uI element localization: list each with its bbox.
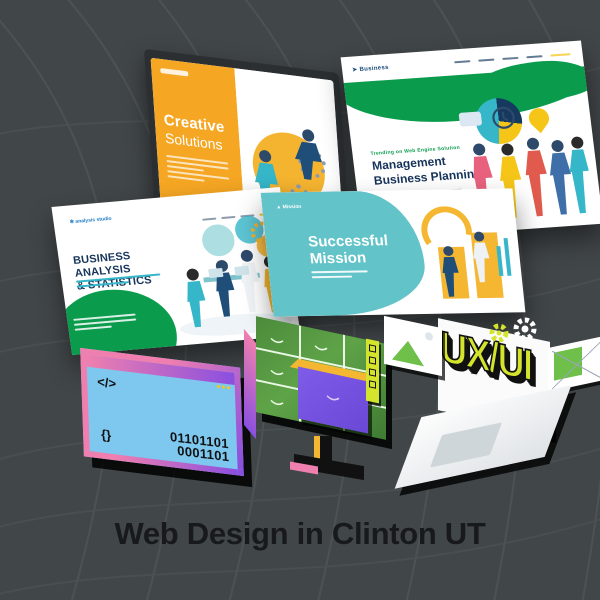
iso-code-window[interactable]: </> {} 01101101 0001101 <box>82 358 252 476</box>
card-bas-blob-text <box>73 313 137 333</box>
drawer-handle-icon <box>270 337 284 346</box>
curly-brace-icon: {} <box>101 426 112 442</box>
creative-brand-logo <box>160 68 188 77</box>
gear-icon <box>508 312 542 346</box>
card-bas-navbar <box>196 202 272 211</box>
toolbar-panel[interactable] <box>366 339 379 404</box>
card-bas-green-blob <box>51 285 183 355</box>
card-sm-climbers-illustration <box>413 200 524 301</box>
iso-drawer-cabinet[interactable] <box>246 318 406 483</box>
drawer-handle-icon <box>326 395 340 404</box>
code-window-frame: </> {} 01101101 0001101 <box>80 348 244 476</box>
drawer-handle-icon <box>270 369 284 378</box>
iso-laptop-uxui[interactable]: UX/UI <box>390 312 600 492</box>
sun-icon <box>425 332 433 342</box>
card-bas-logo: ❇ analysis studio <box>69 216 112 226</box>
wireframe-lines <box>552 340 600 389</box>
illustration-person <box>288 125 332 183</box>
cabinet-side-panel <box>244 329 256 439</box>
shape-tool-icon[interactable] <box>369 356 376 364</box>
window-dots-icon <box>214 374 230 394</box>
color-tool-icon[interactable] <box>369 380 376 388</box>
drawer-handle-icon <box>314 345 328 354</box>
image-panel[interactable] <box>384 316 442 376</box>
poster-canvas: Creative Solutions <box>0 0 600 600</box>
creative-body-text <box>166 155 230 188</box>
move-tool-icon[interactable] <box>369 344 376 352</box>
drawer-handle-icon <box>270 399 284 408</box>
gear-icon <box>486 320 512 346</box>
wireframe-panel[interactable] <box>548 336 600 392</box>
mountain-icon <box>392 338 424 367</box>
code-tag-icon: </> <box>97 374 116 391</box>
card-mbp-icons <box>456 100 561 147</box>
text-tool-icon[interactable] <box>369 368 376 376</box>
page-title: Web Design in Clinton UT <box>0 516 600 552</box>
binary-text: 01101101 0001101 <box>170 430 230 465</box>
card-successful-mission[interactable]: ▲ Mission Successful Mission <box>261 188 526 316</box>
card-sm-logo: ▲ Mission <box>276 204 302 210</box>
card-sm-rule <box>311 270 368 281</box>
card-mbp-logo: ➤ Business <box>352 64 389 73</box>
card-sm-heading: Successful Mission <box>307 232 390 268</box>
